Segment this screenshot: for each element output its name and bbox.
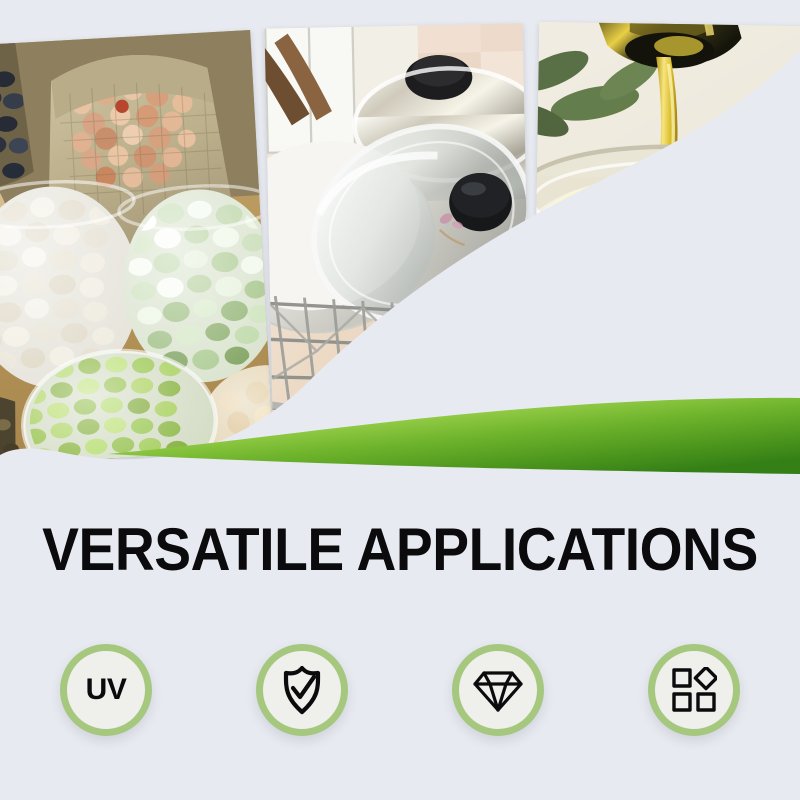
- grid-apps-icon[interactable]: [648, 644, 740, 736]
- diamond-gem-icon[interactable]: [452, 644, 544, 736]
- shield-check-glyph: [279, 665, 325, 715]
- uv-icon[interactable]: UV: [60, 644, 152, 736]
- grid-apps-glyph: [671, 667, 717, 713]
- uv-icon-label: UV: [86, 675, 127, 705]
- versatile-applications-banner: VERSATILE APPLICATIONS UV: [0, 0, 800, 800]
- cookware-photo-art: [265, 23, 532, 460]
- diamond-gem-glyph: [473, 667, 523, 713]
- legumes-photo: [0, 30, 273, 466]
- cookware-photo: [265, 23, 532, 460]
- feature-icon-row: UV: [60, 640, 740, 740]
- olive-oil-photo-art: [533, 22, 800, 446]
- photo-collage: [0, 0, 800, 470]
- page-title: VERSATILE APPLICATIONS: [32, 518, 768, 582]
- shield-check-icon[interactable]: [256, 644, 348, 736]
- legumes-photo-art: [0, 30, 273, 466]
- olive-oil-photo: [533, 22, 800, 446]
